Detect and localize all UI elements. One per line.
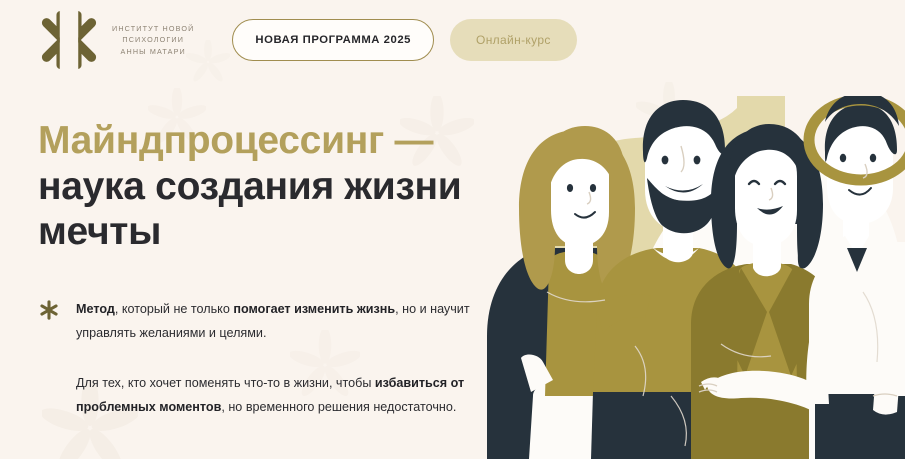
- headline-highlight: Майндпроцессинг: [38, 119, 384, 162]
- person-man-hat: [806, 96, 905, 459]
- brand-line-1: ИНСТИТУТ НОВОЙ: [112, 24, 194, 33]
- hero-paragraph-2: Для тех, кто хочет поменять что-то в жиз…: [76, 371, 498, 419]
- site-header: ИНСТИТУТ НОВОЙ ПСИХОЛОГИИ АННЫ МАТАРИ НО…: [0, 0, 905, 80]
- paragraph-segment: , который не только: [115, 302, 233, 316]
- brand-name: ИНСТИТУТ НОВОЙ ПСИХОЛОГИИ АННЫ МАТАРИ: [112, 23, 194, 58]
- online-course-badge[interactable]: Онлайн-курс: [450, 19, 577, 61]
- hero-copy: Майндпроцессинг — наука создания жизни м…: [38, 118, 498, 420]
- hero-bullet-1: Метод, который не только помогает измени…: [38, 297, 498, 345]
- page-title: Майндпроцессинг — наука создания жизни м…: [38, 118, 498, 255]
- header-badges: НОВАЯ ПРОГРАММА 2025 Онлайн-курс: [232, 19, 576, 61]
- brand-logo[interactable]: ИНСТИТУТ НОВОЙ ПСИХОЛОГИИ АННЫ МАТАРИ: [36, 7, 194, 73]
- flower-bullet-icon: [38, 299, 60, 321]
- paragraph-segment: Метод: [76, 302, 115, 316]
- paragraph-segment: Для тех, кто хочет поменять что-то в жиз…: [76, 376, 375, 390]
- brand-line-3: АННЫ МАТАРИ: [121, 47, 186, 56]
- group-of-four-people-illustration: [485, 96, 905, 459]
- brand-line-2: ПСИХОЛОГИИ: [122, 35, 184, 44]
- paragraph-segment: , но временного решения недостаточно.: [221, 400, 456, 414]
- headline-rest: наука создания жизни мечты: [38, 165, 461, 254]
- four-petal-flower-icon: [36, 7, 102, 73]
- hero-paragraph-1: Метод, который не только помогает измени…: [76, 297, 498, 345]
- landing-hero-page: ИНСТИТУТ НОВОЙ ПСИХОЛОГИИ АННЫ МАТАРИ НО…: [0, 0, 905, 459]
- new-program-badge[interactable]: НОВАЯ ПРОГРАММА 2025: [232, 19, 434, 61]
- paragraph-segment: помогает изменить жизнь: [233, 302, 395, 316]
- headline-dash: —: [395, 119, 434, 162]
